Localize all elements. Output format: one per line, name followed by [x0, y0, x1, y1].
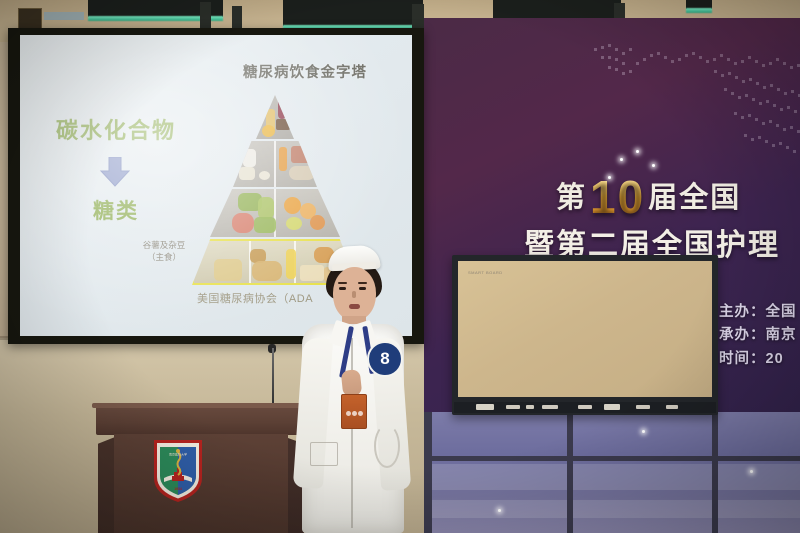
whiteboard-marker-4 — [578, 405, 592, 409]
whiteboard-brand-label: SMART BOARD — [468, 270, 503, 275]
cheese-item — [239, 167, 255, 180]
window-mullion-v2 — [567, 412, 573, 533]
city-sparkle-2 — [642, 430, 645, 433]
lemon-item — [286, 217, 302, 230]
chocolate-item — [276, 119, 290, 130]
coat-pocket — [310, 442, 338, 466]
pyramid-base-label-line2: （主食） — [122, 251, 206, 263]
ceiling-baffle-4 — [686, 0, 712, 9]
id-card-line-1 — [346, 411, 351, 416]
ham-item — [291, 146, 313, 163]
city-light-band-2 — [424, 500, 800, 518]
window-mullion-v3 — [712, 412, 718, 533]
emblem-year: 1934 — [174, 487, 182, 491]
presenter-id-card — [341, 394, 367, 429]
city-sparkle-3 — [750, 470, 753, 473]
banner-info-block: 主办：全国 承办：南京 时间：20 — [719, 301, 797, 371]
egg-item — [259, 171, 270, 180]
slide-pyramid-base-label: 谷薯及杂豆 （主食） — [122, 239, 206, 264]
slide-title: 糖尿病饮食金字塔 — [210, 61, 400, 82]
contestant-number-badge: 8 — [367, 341, 403, 377]
stethoscope-loop — [374, 424, 400, 468]
wine-glass-item — [278, 99, 286, 119]
whiteboard-marker-tray — [454, 402, 716, 413]
banner-cityscape-strip — [424, 412, 800, 533]
whiteboard-marker-2 — [526, 405, 534, 409]
juice-glass-item — [262, 125, 275, 137]
whiteboard-marker-1 — [506, 405, 520, 409]
banner-info-date: 时间：20 — [719, 348, 797, 371]
whiteboard-eraser-2 — [604, 404, 620, 410]
soybeans-item — [214, 259, 242, 281]
lettuce-item — [258, 197, 274, 219]
fish-item — [289, 166, 315, 180]
banner-line1-suffix: 届全国 — [648, 182, 741, 214]
emblem-cn-name: 南京医科大学 — [169, 452, 187, 457]
ceiling-baffle-2 — [283, 0, 423, 26]
window-mullion-v1 — [424, 412, 432, 533]
banner-info-organizer: 主办：全国 — [719, 301, 797, 324]
pyramid-tier-dairy-meat — [233, 141, 317, 187]
microphone-stem — [272, 348, 274, 406]
whiteboard-eraser — [476, 404, 494, 410]
banner-headline-line1: 第10届全国 — [556, 170, 741, 224]
city-light-band-1 — [424, 464, 800, 490]
id-card-line-2 — [352, 411, 357, 416]
milk-jug-item — [243, 149, 256, 167]
presentation-photo-scene: 第10届全国 暨第二届全国护理 主办：全国 承办：南京 时间：20 糖尿病饮食金… — [0, 0, 800, 533]
tier4-divider-1 — [249, 241, 251, 285]
world-map-dot-pattern — [574, 18, 800, 168]
ceiling-strip-left — [44, 12, 84, 20]
orange-item — [284, 197, 301, 214]
slide-sugar-term: 糖类 — [56, 195, 176, 225]
banner-sparkle-3 — [652, 164, 655, 167]
slide-carbohydrate-term: 碳水化合物 — [36, 113, 196, 145]
whiteboard-marker-6 — [666, 405, 678, 409]
whiteboard-marker-5 — [636, 405, 650, 409]
presenter-brow-left — [338, 282, 347, 284]
city-sparkle-1 — [498, 509, 501, 512]
presenter-nose — [352, 291, 356, 298]
banner-sparkle-4 — [608, 176, 611, 179]
id-card-line-3 — [358, 411, 363, 416]
presenter-hand — [341, 369, 363, 397]
presenter-mouth — [349, 304, 360, 309]
whiteboard-marker-3 — [542, 405, 558, 409]
banner-sparkle-1 — [620, 158, 623, 161]
banner-info-host: 承办：南京 — [719, 324, 797, 347]
presenter-brow-right — [358, 282, 367, 284]
carrot-item — [279, 147, 287, 171]
down-arrow-icon — [98, 157, 132, 187]
banner-sparkle-2 — [636, 150, 639, 153]
podium-left-face — [98, 437, 115, 533]
potato-item — [252, 261, 282, 281]
corn-item — [286, 249, 296, 279]
presenter-figure: 8 — [296, 246, 408, 533]
banner-line1-prefix: 第 — [556, 182, 587, 214]
whiteboard-surface: SMART BOARD — [458, 261, 712, 397]
podium-top-surface — [96, 403, 306, 435]
pyramid-tier-vegetables-fruits — [210, 189, 340, 237]
coat-center-seam — [351, 338, 353, 528]
tier2-divider — [274, 141, 276, 187]
nanjing-medical-university-emblem: 南京医科大学 1934 — [152, 438, 204, 504]
presenter-eye-right — [359, 287, 366, 290]
apple-item — [310, 215, 325, 230]
window-mullion-h1 — [424, 456, 800, 461]
presenter-eye-left — [339, 287, 346, 290]
banner-edition-number: 10 — [590, 170, 645, 224]
pyramid-base-label-line1: 谷薯及杂豆 — [122, 239, 206, 251]
whiteboard: SMART BOARD — [452, 255, 718, 415]
greens-item — [254, 217, 276, 233]
cabbage-item — [232, 213, 254, 233]
pyramid-tier-oils-sweets — [256, 95, 294, 139]
